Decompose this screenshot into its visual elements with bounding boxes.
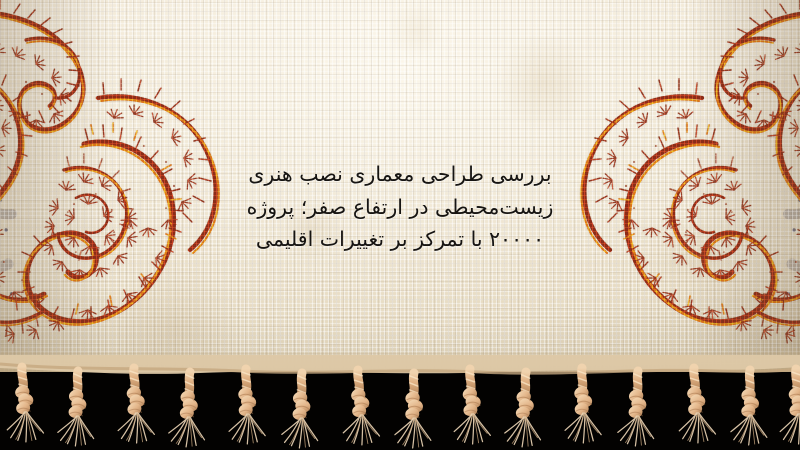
tassel-fringe: [0, 355, 800, 450]
title-line-1: بررسی طراحی معماری نصب هنری: [200, 158, 600, 191]
title-line-3: ۲۰۰۰۰ با تمرکز بر تغییرات اقلیمی: [200, 223, 600, 256]
slide-title: بررسی طراحی معماری نصب هنری زیست‌محیطی د…: [0, 158, 800, 256]
slide-canvas: بررسی طراحی معماری نصب هنری زیست‌محیطی د…: [0, 0, 800, 450]
title-line-2: زیست‌محیطی در ارتفاع صفر؛ پروژه: [200, 191, 600, 224]
